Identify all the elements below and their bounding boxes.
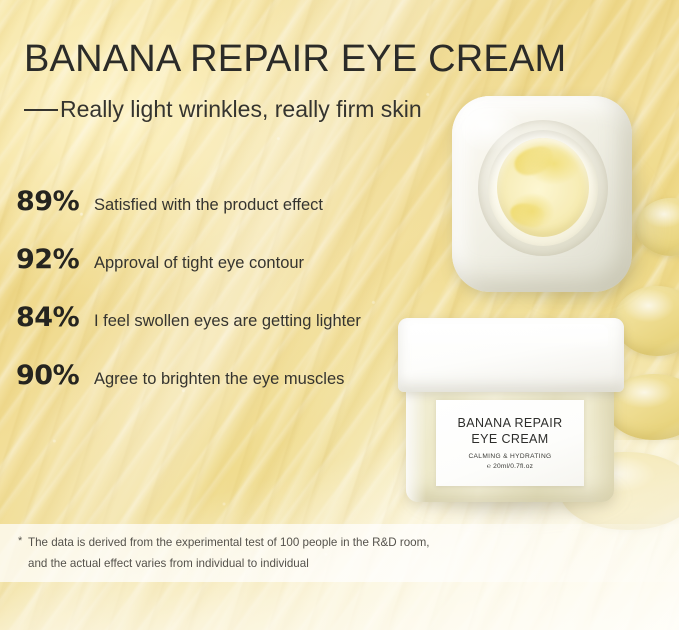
product-label-brand-line-1: BANANA REPAIR <box>458 416 563 432</box>
statistics-list: 89% Satisfied with the product effect 92… <box>16 188 436 420</box>
open-jar-product-photo <box>452 96 648 308</box>
stat-description: Satisfied with the product effect <box>94 197 323 214</box>
product-label-claim: CALMING & HYDRATING <box>468 453 551 460</box>
page-subtitle-text: Really light wrinkles, really firm skin <box>60 96 422 123</box>
stat-description: Approval of tight eye contour <box>94 255 304 272</box>
list-item: 84% I feel swollen eyes are getting ligh… <box>16 304 436 362</box>
closed-jar-glass-right-edge <box>588 380 614 502</box>
closed-jar-lid-sheen <box>408 324 608 350</box>
stat-description: I feel swollen eyes are getting lighter <box>94 313 361 330</box>
page-title: BANANA REPAIR EYE CREAM <box>24 38 566 81</box>
stat-description: Agree to brighten the eye muscles <box>94 371 344 388</box>
stat-percent: 90% <box>16 362 94 389</box>
footnote-line-1: The data is derived from the experimenta… <box>28 532 538 553</box>
open-jar-highlight <box>462 108 522 152</box>
product-label-volume: ℮ 20ml/0.7fl.oz <box>487 463 533 470</box>
footnote-lines: The data is derived from the experimenta… <box>28 532 538 574</box>
footnote-disclaimer: * The data is derived from the experimen… <box>18 532 538 574</box>
footnote-marker: * <box>18 531 22 551</box>
page-subtitle: Really light wrinkles, really firm skin <box>24 96 422 123</box>
footnote-line-2: and the actual effect varies from indivi… <box>28 553 538 574</box>
product-label-brand-line-2: EYE CREAM <box>471 432 548 448</box>
list-item: 90% Agree to brighten the eye muscles <box>16 362 436 420</box>
stat-percent: 89% <box>16 188 94 215</box>
list-item: 89% Satisfied with the product effect <box>16 188 436 246</box>
stat-percent: 84% <box>16 304 94 331</box>
product-label: BANANA REPAIR EYE CREAM CALMING & HYDRAT… <box>436 400 584 486</box>
em-dash-rule <box>24 109 58 111</box>
stat-percent: 92% <box>16 246 94 273</box>
product-poster: BANANA REPAIR EYE CREAM CALMING & HYDRAT… <box>0 0 679 630</box>
list-item: 92% Approval of tight eye contour <box>16 246 436 304</box>
